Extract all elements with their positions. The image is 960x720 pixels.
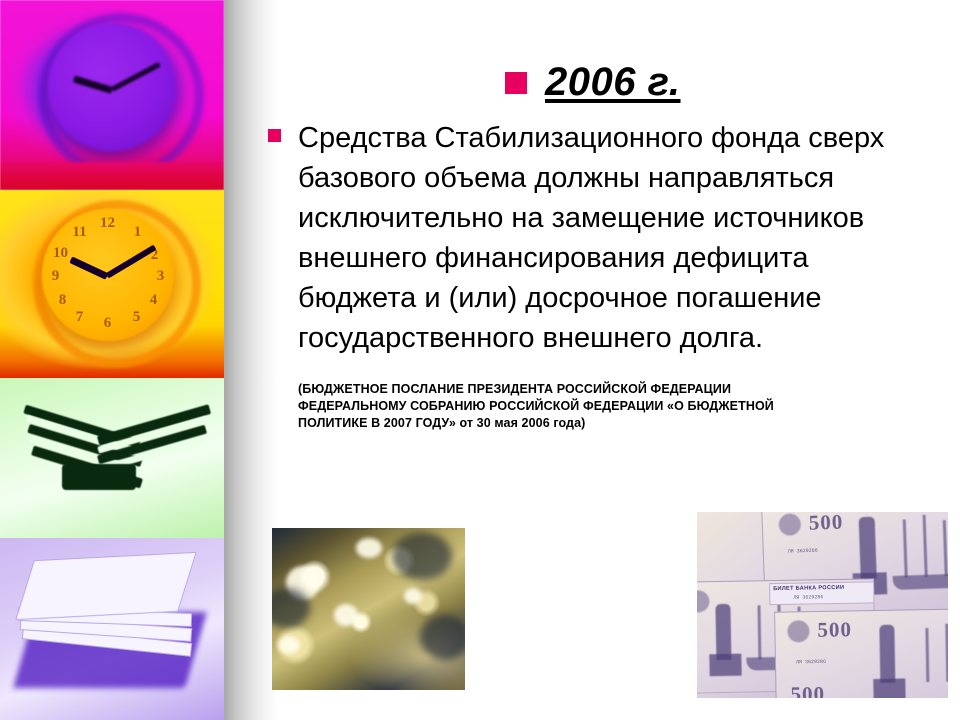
banknote-denomination: 500 — [790, 684, 825, 698]
body-bullet-item: Средства Стабилизационного фонда сверх б… — [268, 118, 958, 358]
clock-numeral: 8 — [54, 293, 72, 308]
banknote-ship — [923, 515, 928, 577]
coin-highlight — [334, 604, 358, 626]
banknote-seal-icon — [787, 620, 809, 642]
photo-shadow — [420, 614, 465, 660]
slide-canvas: 12 1 2 3 4 5 6 7 8 9 10 11 — [0, 0, 960, 720]
slide-title-row: 2006 г. — [505, 60, 681, 105]
banknote-denomination: 500 — [817, 619, 852, 641]
banknote-seal-icon — [778, 513, 801, 536]
clock-numeral: 11 — [71, 225, 89, 240]
citation-line: (БЮДЖЕТНОЕ ПОСЛАНИЕ ПРЕЗИДЕНТА РОССИЙСКО… — [298, 381, 908, 398]
banknote: 500 500 ЛЯ 3629286 — [774, 608, 948, 698]
banknote-denomination: 500 — [808, 512, 843, 534]
banknote-statue — [873, 678, 905, 698]
banknote-fold — [62, 464, 136, 490]
banknote-ship — [757, 605, 761, 659]
photo-shadow — [392, 532, 452, 580]
banknote-statue — [859, 517, 877, 580]
coins-photo — [272, 528, 465, 690]
citation-line: ПОЛИТИКЕ В 2007 ГОДУ» от 30 мая 2006 год… — [298, 415, 908, 432]
banknote-statue — [709, 654, 741, 677]
banknote-serial: ЛЯ 3629286 — [793, 595, 823, 601]
clock-numeral: 1 — [129, 225, 147, 240]
body-paragraph: Средства Стабилизационного фонда сверх б… — [298, 118, 908, 358]
clock-numeral: 7 — [71, 310, 89, 325]
banknote-statue — [879, 625, 895, 683]
banknote-seal-icon — [697, 590, 710, 612]
coin-highlight — [356, 538, 382, 558]
banknote-ship — [943, 520, 948, 576]
side-image-strip: 12 1 2 3 4 5 6 7 8 9 10 11 — [0, 0, 224, 720]
title-bullet-icon — [505, 72, 527, 94]
clock-numeral: 5 — [128, 310, 146, 325]
citation-block: (БЮДЖЕТНОЕ ПОСЛАНИЕ ПРЕЗИДЕНТА РОССИЙСКО… — [298, 381, 908, 432]
banknote-serial: ЛЯ 3629286 — [788, 549, 818, 555]
paper-sheet — [15, 552, 196, 620]
banknote-serial: ЛЯ 3629286 — [796, 660, 826, 666]
banknote-ship — [945, 624, 948, 682]
body-bullet-icon — [268, 129, 281, 142]
clock-numeral: 4 — [145, 293, 163, 308]
clock-numeral: 9 — [47, 269, 65, 284]
yellow-clock-photo: 12 1 2 3 4 5 6 7 8 9 10 11 — [0, 190, 224, 378]
clock-numeral: 6 — [99, 316, 117, 331]
photo-red-band — [0, 162, 224, 190]
body-text: Средства Стабилизационного фонда сверх б… — [298, 118, 908, 358]
purple-clock-photo — [0, 0, 224, 190]
banknote-ship — [903, 520, 908, 578]
clock-numeral: 3 — [152, 269, 170, 284]
coin-highlight — [404, 588, 422, 604]
green-banknotes-photo — [0, 378, 224, 538]
page-title: 2006 г. — [545, 60, 681, 105]
citation-line: ФЕДЕРАЛЬНОМУ СОБРАНИЮ РОССИЙСКОЙ ФЕДЕРАЦ… — [298, 398, 908, 415]
clock-numeral: 12 — [99, 216, 117, 231]
banknotes-photo: 500 ЛЯ 3629286 БИЛЕТ БАНКА РОССИИ ЛЯ 362… — [697, 512, 948, 698]
banknote-statue — [715, 604, 731, 660]
coin-highlight — [278, 636, 300, 654]
banknote-ship — [893, 574, 948, 590]
purple-papers-photo — [0, 538, 224, 720]
banknote-ship — [925, 628, 929, 682]
clock-numeral: 10 — [52, 246, 70, 261]
